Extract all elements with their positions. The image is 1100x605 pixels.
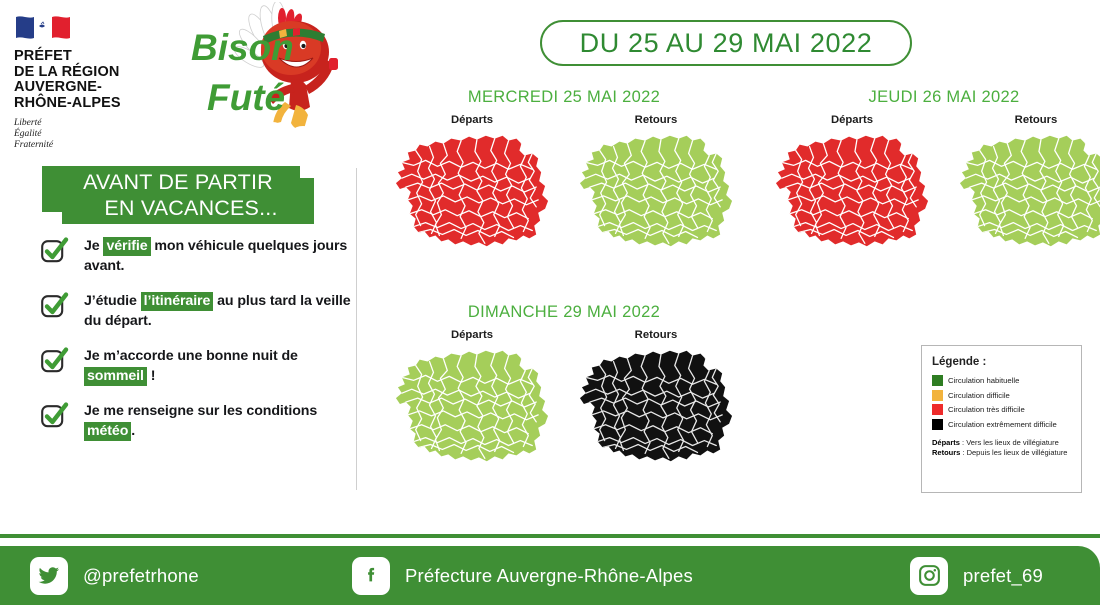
prefecture-logo: PRÉFET DE LA RÉGION AUVERGNE- RHÔNE-ALPE… (14, 14, 194, 151)
facebook-glyph (359, 564, 383, 588)
france-traffic-map (572, 129, 740, 253)
map-pair: Départs Retours (768, 114, 1100, 253)
checkbox-checked-icon (40, 237, 70, 265)
prefecture-title-line-3: AUVERGNE- (14, 80, 194, 96)
legend-item-label: Circulation difficile (948, 391, 1010, 400)
france-map-svg (392, 344, 552, 468)
checklist-highlight: sommeil (84, 367, 147, 386)
legend-color-swatch (932, 375, 943, 386)
brand-word-bison: Bison (191, 27, 294, 68)
checklist-highlight: l’itinéraire (141, 292, 214, 311)
checklist-plain-text: Je (84, 238, 103, 254)
legend-item-label: Circulation très difficile (948, 405, 1025, 414)
france-traffic-map (952, 129, 1100, 253)
checklist-item: Je vérifie mon véhicule quelques jours a… (40, 236, 355, 276)
checklist-item-text: Je me renseigne sur les conditions météo… (84, 401, 355, 441)
brand-word-fute: Futé (207, 77, 285, 118)
legend-note-text: : Depuis les lieux de villégiature (960, 448, 1067, 457)
legend-items: Circulation habituelleCirculation diffic… (932, 375, 1072, 430)
checkbox-checked-icon (40, 292, 70, 320)
day-forecast-block: JEUDI 26 MAI 2022Départs Retours (768, 88, 1100, 253)
france-map-svg (576, 344, 736, 468)
motto-line-1: Liberté (14, 118, 194, 129)
france-map-svg (392, 129, 552, 253)
legend-item: Circulation extrêmement difficile (932, 419, 1072, 430)
legend-notes: Départs : Vers les lieux de villégiature… (932, 438, 1072, 458)
checkbox-checked-icon (40, 292, 70, 320)
day-title: DIMANCHE 29 MAI 2022 (388, 303, 740, 322)
map-pair: Départs Retours (388, 329, 740, 468)
checklist-plain-text: J’étudie (84, 293, 141, 309)
checklist-highlight: météo (84, 422, 131, 441)
france-map-svg (772, 129, 932, 253)
prefecture-title-line-2: DE LA RÉGION (14, 65, 194, 81)
legend-color-swatch (932, 419, 943, 430)
legend: Légende : Circulation habituelleCirculat… (921, 345, 1082, 493)
legend-item-label: Circulation extrêmement difficile (948, 420, 1057, 429)
legend-title: Légende : (932, 356, 1072, 368)
legend-item: Circulation habituelle (932, 375, 1072, 386)
legend-color-swatch (932, 404, 943, 415)
infographic-page: PRÉFET DE LA RÉGION AUVERGNE- RHÔNE-ALPE… (0, 0, 1100, 605)
legend-note-term: Départs (932, 438, 960, 447)
checklist-plain-text: Je m’accorde une bonne nuit de (84, 348, 298, 364)
map-caption: Retours (572, 329, 740, 341)
map-cell-départs: Départs (388, 329, 556, 468)
checklist-plain-text: ! (147, 368, 155, 384)
france-map-svg (956, 129, 1100, 253)
checklist-highlight: vérifie (103, 237, 150, 256)
map-pair: Départs Retours (388, 114, 740, 253)
checkbox-checked-icon (40, 402, 70, 430)
prefecture-title-line-1: PRÉFET (14, 49, 194, 65)
legend-item-label: Circulation habituelle (948, 376, 1019, 385)
legend-note-row: Retours : Depuis les lieux de villégiatu… (932, 448, 1072, 458)
banner-line-1: AVANT DE PARTIR (42, 169, 314, 195)
map-caption: Départs (388, 329, 556, 341)
date-range-badge: DU 25 AU 29 MAI 2022 (540, 20, 912, 66)
checkbox-checked-icon (40, 237, 70, 265)
footer-social-bar: @prefetrhone Préfecture Auvergne-Rhône-A… (0, 546, 1100, 605)
checkbox-checked-icon (40, 402, 70, 430)
checklist-item: Je me renseigne sur les conditions météo… (40, 401, 355, 441)
legend-item: Circulation difficile (932, 390, 1072, 401)
legend-note-text: : Vers les lieux de villégiature (960, 438, 1059, 447)
twitter-handle[interactable]: @prefetrhone (83, 565, 199, 587)
checklist-item: Je m’accorde une bonne nuit de sommeil ! (40, 346, 355, 386)
checkbox-checked-icon (40, 347, 70, 375)
france-traffic-map (388, 129, 556, 253)
banner-line-2: EN VACANCES... (42, 195, 314, 221)
checklist-item: J’étudie l’itinéraire au plus tard la ve… (40, 291, 355, 331)
social-facebook[interactable]: Préfecture Auvergne-Rhône-Alpes (352, 557, 693, 595)
map-caption: Retours (572, 114, 740, 126)
day-title: JEUDI 26 MAI 2022 (768, 88, 1100, 107)
footer-accent-rule (0, 534, 1100, 538)
map-caption: Retours (952, 114, 1100, 126)
date-range-text: DU 25 AU 29 MAI 2022 (580, 28, 873, 59)
france-traffic-map (572, 344, 740, 468)
motto-line-3: Fraternité (14, 140, 194, 151)
instagram-icon[interactable] (910, 557, 948, 595)
facebook-handle[interactable]: Préfecture Auvergne-Rhône-Alpes (405, 565, 693, 587)
pre-departure-checklist: Je vérifie mon véhicule quelques jours a… (40, 236, 355, 456)
instagram-glyph (917, 563, 942, 588)
bison-fute-mascot-icon: Bison Futé (183, 2, 358, 134)
checklist-plain-text: . (131, 423, 135, 439)
social-instagram[interactable]: prefet_69 (910, 557, 1043, 595)
social-twitter[interactable]: @prefetrhone (30, 557, 199, 595)
checklist-item-text: J’étudie l’itinéraire au plus tard la ve… (84, 291, 355, 331)
twitter-icon[interactable] (30, 557, 68, 595)
france-traffic-map (768, 129, 936, 253)
checklist-item-text: Je vérifie mon véhicule quelques jours a… (84, 236, 355, 276)
prefecture-title-line-4: RHÔNE-ALPES (14, 96, 194, 112)
french-republic-flag-icon (14, 14, 76, 42)
day-forecast-block: DIMANCHE 29 MAI 2022Départs Retours (388, 303, 740, 468)
section-banner: AVANT DE PARTIR EN VACANCES... (42, 166, 314, 224)
map-cell-retours: Retours (572, 114, 740, 253)
republic-motto: Liberté Égalité Fraternité (14, 118, 194, 151)
legend-note-row: Départs : Vers les lieux de villégiature (932, 438, 1072, 448)
instagram-handle[interactable]: prefet_69 (963, 565, 1043, 587)
motto-line-2: Égalité (14, 129, 194, 140)
legend-item: Circulation très difficile (932, 404, 1072, 415)
prefecture-title: PRÉFET DE LA RÉGION AUVERGNE- RHÔNE-ALPE… (14, 49, 194, 111)
twitter-glyph (37, 564, 61, 588)
day-forecast-block: MERCREDI 25 MAI 2022Départs Retours (388, 88, 740, 253)
france-map-svg (576, 129, 736, 253)
map-cell-retours: Retours (952, 114, 1100, 253)
facebook-icon[interactable] (352, 557, 390, 595)
map-cell-départs: Départs (388, 114, 556, 253)
legend-color-swatch (932, 390, 943, 401)
bison-fute-logo: Bison Futé (183, 2, 358, 134)
legend-note-term: Retours (932, 448, 960, 457)
map-caption: Départs (388, 114, 556, 126)
france-traffic-map (388, 344, 556, 468)
checkbox-checked-icon (40, 347, 70, 375)
map-cell-retours: Retours (572, 329, 740, 468)
map-cell-départs: Départs (768, 114, 936, 253)
banner-text: AVANT DE PARTIR EN VACANCES... (42, 166, 314, 224)
day-title: MERCREDI 25 MAI 2022 (388, 88, 740, 107)
checklist-plain-text: Je me renseigne sur les conditions (84, 403, 317, 419)
checklist-item-text: Je m’accorde une bonne nuit de sommeil ! (84, 346, 355, 386)
panel-divider (356, 168, 357, 490)
map-caption: Départs (768, 114, 936, 126)
